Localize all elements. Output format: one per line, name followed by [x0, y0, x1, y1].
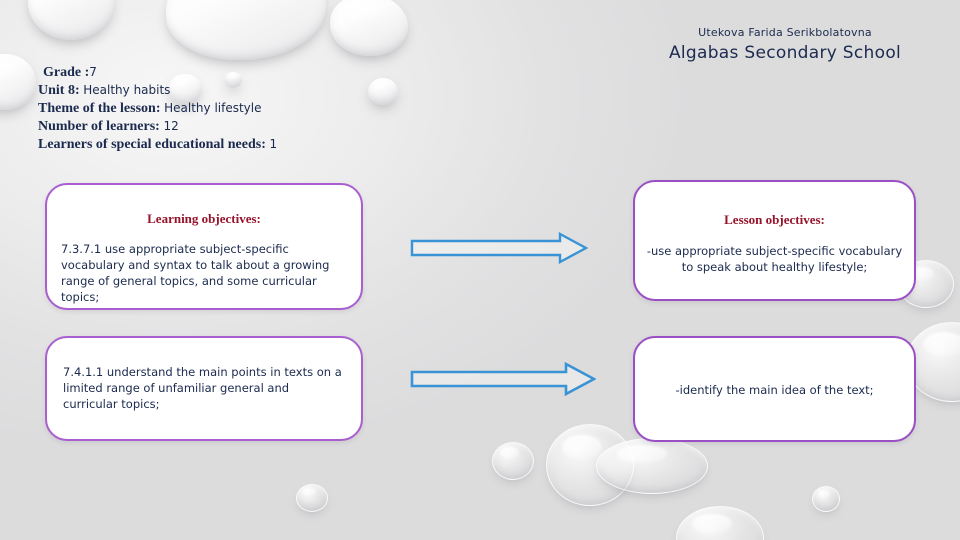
school-name: Algabas Secondary School: [620, 42, 950, 64]
learning-objectives-title: Learning objectives:: [47, 211, 361, 227]
meta-value-theme: Healthy lifestyle: [164, 101, 261, 115]
meta-row-unit: Unit 8: Healthy habits: [38, 81, 277, 99]
meta-row-learners: Number of learners: 12: [38, 117, 277, 135]
meta-label-unit: Unit 8:: [38, 83, 80, 98]
water-droplet-icon: [676, 506, 764, 540]
water-droplet-icon: [368, 78, 398, 105]
learning-objectives-body: 7.3.7.1 use appropriate subject-specific…: [47, 241, 361, 305]
water-droplet-icon: [0, 54, 36, 110]
meta-row-sen: Learners of special educational needs: 1: [38, 135, 277, 153]
lesson-objectives-box-2: -identify the main idea of the text;: [633, 336, 916, 442]
water-droplet-icon: [596, 438, 708, 494]
lesson-objectives-body-2: -identify the main idea of the text;: [635, 382, 914, 398]
meta-value-grade: 7: [89, 65, 97, 79]
teacher-name: Utekova Farida Serikbolatovna: [620, 26, 950, 40]
meta-label-sen: Learners of special educational needs:: [38, 137, 266, 152]
lesson-meta-block: Grade :7 Unit 8: Healthy habits Theme of…: [38, 63, 277, 153]
water-droplet-icon: [492, 442, 534, 480]
water-droplet-icon: [812, 486, 840, 512]
meta-label-grade: Grade :: [38, 65, 89, 80]
meta-label-theme: Theme of the lesson:: [38, 101, 161, 116]
lesson-objectives-title: Lesson objectives:: [635, 212, 914, 228]
learning-objectives-box: Learning objectives: 7.3.7.1 use appropr…: [45, 183, 363, 310]
meta-value-learners: 12: [163, 119, 178, 133]
meta-label-learners: Number of learners:: [38, 119, 160, 134]
water-droplet-icon: [296, 484, 328, 512]
meta-value-unit: Healthy habits: [83, 83, 170, 97]
lesson-objectives-body: -use appropriate subject-specific vocabu…: [635, 243, 914, 275]
water-droplet-icon: [330, 0, 408, 56]
water-droplet-icon: [166, 0, 326, 60]
meta-value-sen: 1: [270, 137, 278, 151]
water-droplet-icon: [28, 0, 114, 40]
meta-row-theme: Theme of the lesson: Healthy lifestyle: [38, 99, 277, 117]
learning-objectives-box-2: 7.4.1.1 understand the main points in te…: [45, 336, 363, 441]
arrow-right-icon: [410, 362, 596, 396]
learning-objectives-body-2: 7.4.1.1 understand the main points in te…: [47, 364, 361, 412]
slide-canvas: Utekova Farida Serikbolatovna Algabas Se…: [0, 0, 960, 540]
meta-row-grade: Grade :7: [38, 63, 277, 81]
school-header: Utekova Farida Serikbolatovna Algabas Se…: [620, 26, 950, 64]
lesson-objectives-box: Lesson objectives: -use appropriate subj…: [633, 180, 916, 301]
arrow-right-icon: [410, 232, 588, 264]
